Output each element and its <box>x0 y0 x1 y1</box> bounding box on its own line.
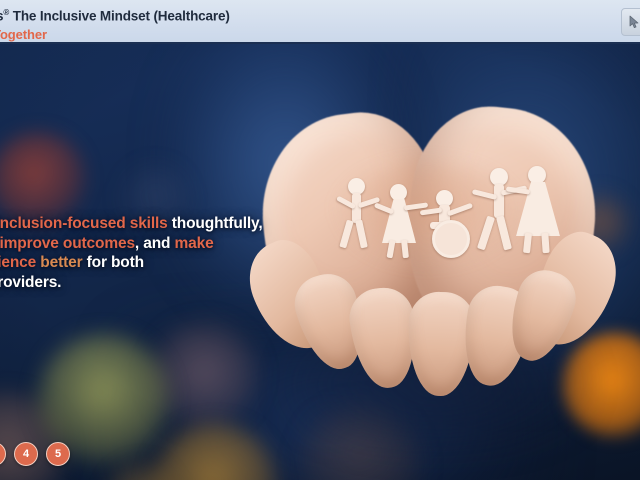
cursor-pointer-icon <box>629 15 640 29</box>
page-title: Briefs® The Inclusive Mindset (Healthcar… <box>0 4 230 26</box>
slide-headline: ve use inclusion-focused skills thoughtf… <box>0 214 294 292</box>
headline-line: s and providers. <box>0 273 294 293</box>
headline-run: for both <box>82 254 144 271</box>
headline-run: thoughtfully, <box>168 215 263 232</box>
headline-line: ve use inclusion-focused skills thoughtf… <box>0 214 294 234</box>
pagination-dot-5[interactable]: 5 <box>46 442 70 466</box>
headline-run: e experience <box>0 254 40 271</box>
pagination-dot-4[interactable]: 4 <box>14 442 38 466</box>
page-title-rest: The Inclusive Mindset (Healthcare) <box>9 9 230 24</box>
header-bar: Briefs® The Inclusive Mindset (Healthcar… <box>0 0 640 44</box>
pagination-dot-3[interactable]: 3 <box>0 442 6 466</box>
headline-run: s and providers. <box>0 274 61 291</box>
headline-run: improve outcomes <box>0 235 135 252</box>
slide-stage: ve use inclusion-focused skills thoughtf… <box>0 44 640 480</box>
pagination: 345 <box>0 442 70 466</box>
headline-line: d trust, improve outcomes, and make <box>0 234 294 254</box>
header-menu-button[interactable] <box>621 8 640 36</box>
headline-line: e experience better for both <box>0 253 294 273</box>
slide-viewer: Briefs® The Inclusive Mindset (Healthcar… <box>0 0 640 480</box>
headline-run: inclusion-focused skills <box>0 215 168 232</box>
header-title-group: Briefs® The Inclusive Mindset (Healthcar… <box>0 4 230 43</box>
paper-people-chain <box>334 160 556 272</box>
headline-run: , and <box>135 235 175 252</box>
headline-run: make <box>175 235 214 252</box>
hands-photo <box>258 90 628 420</box>
page-subtitle: : All Together <box>0 27 230 43</box>
headline-run: better <box>40 254 82 271</box>
